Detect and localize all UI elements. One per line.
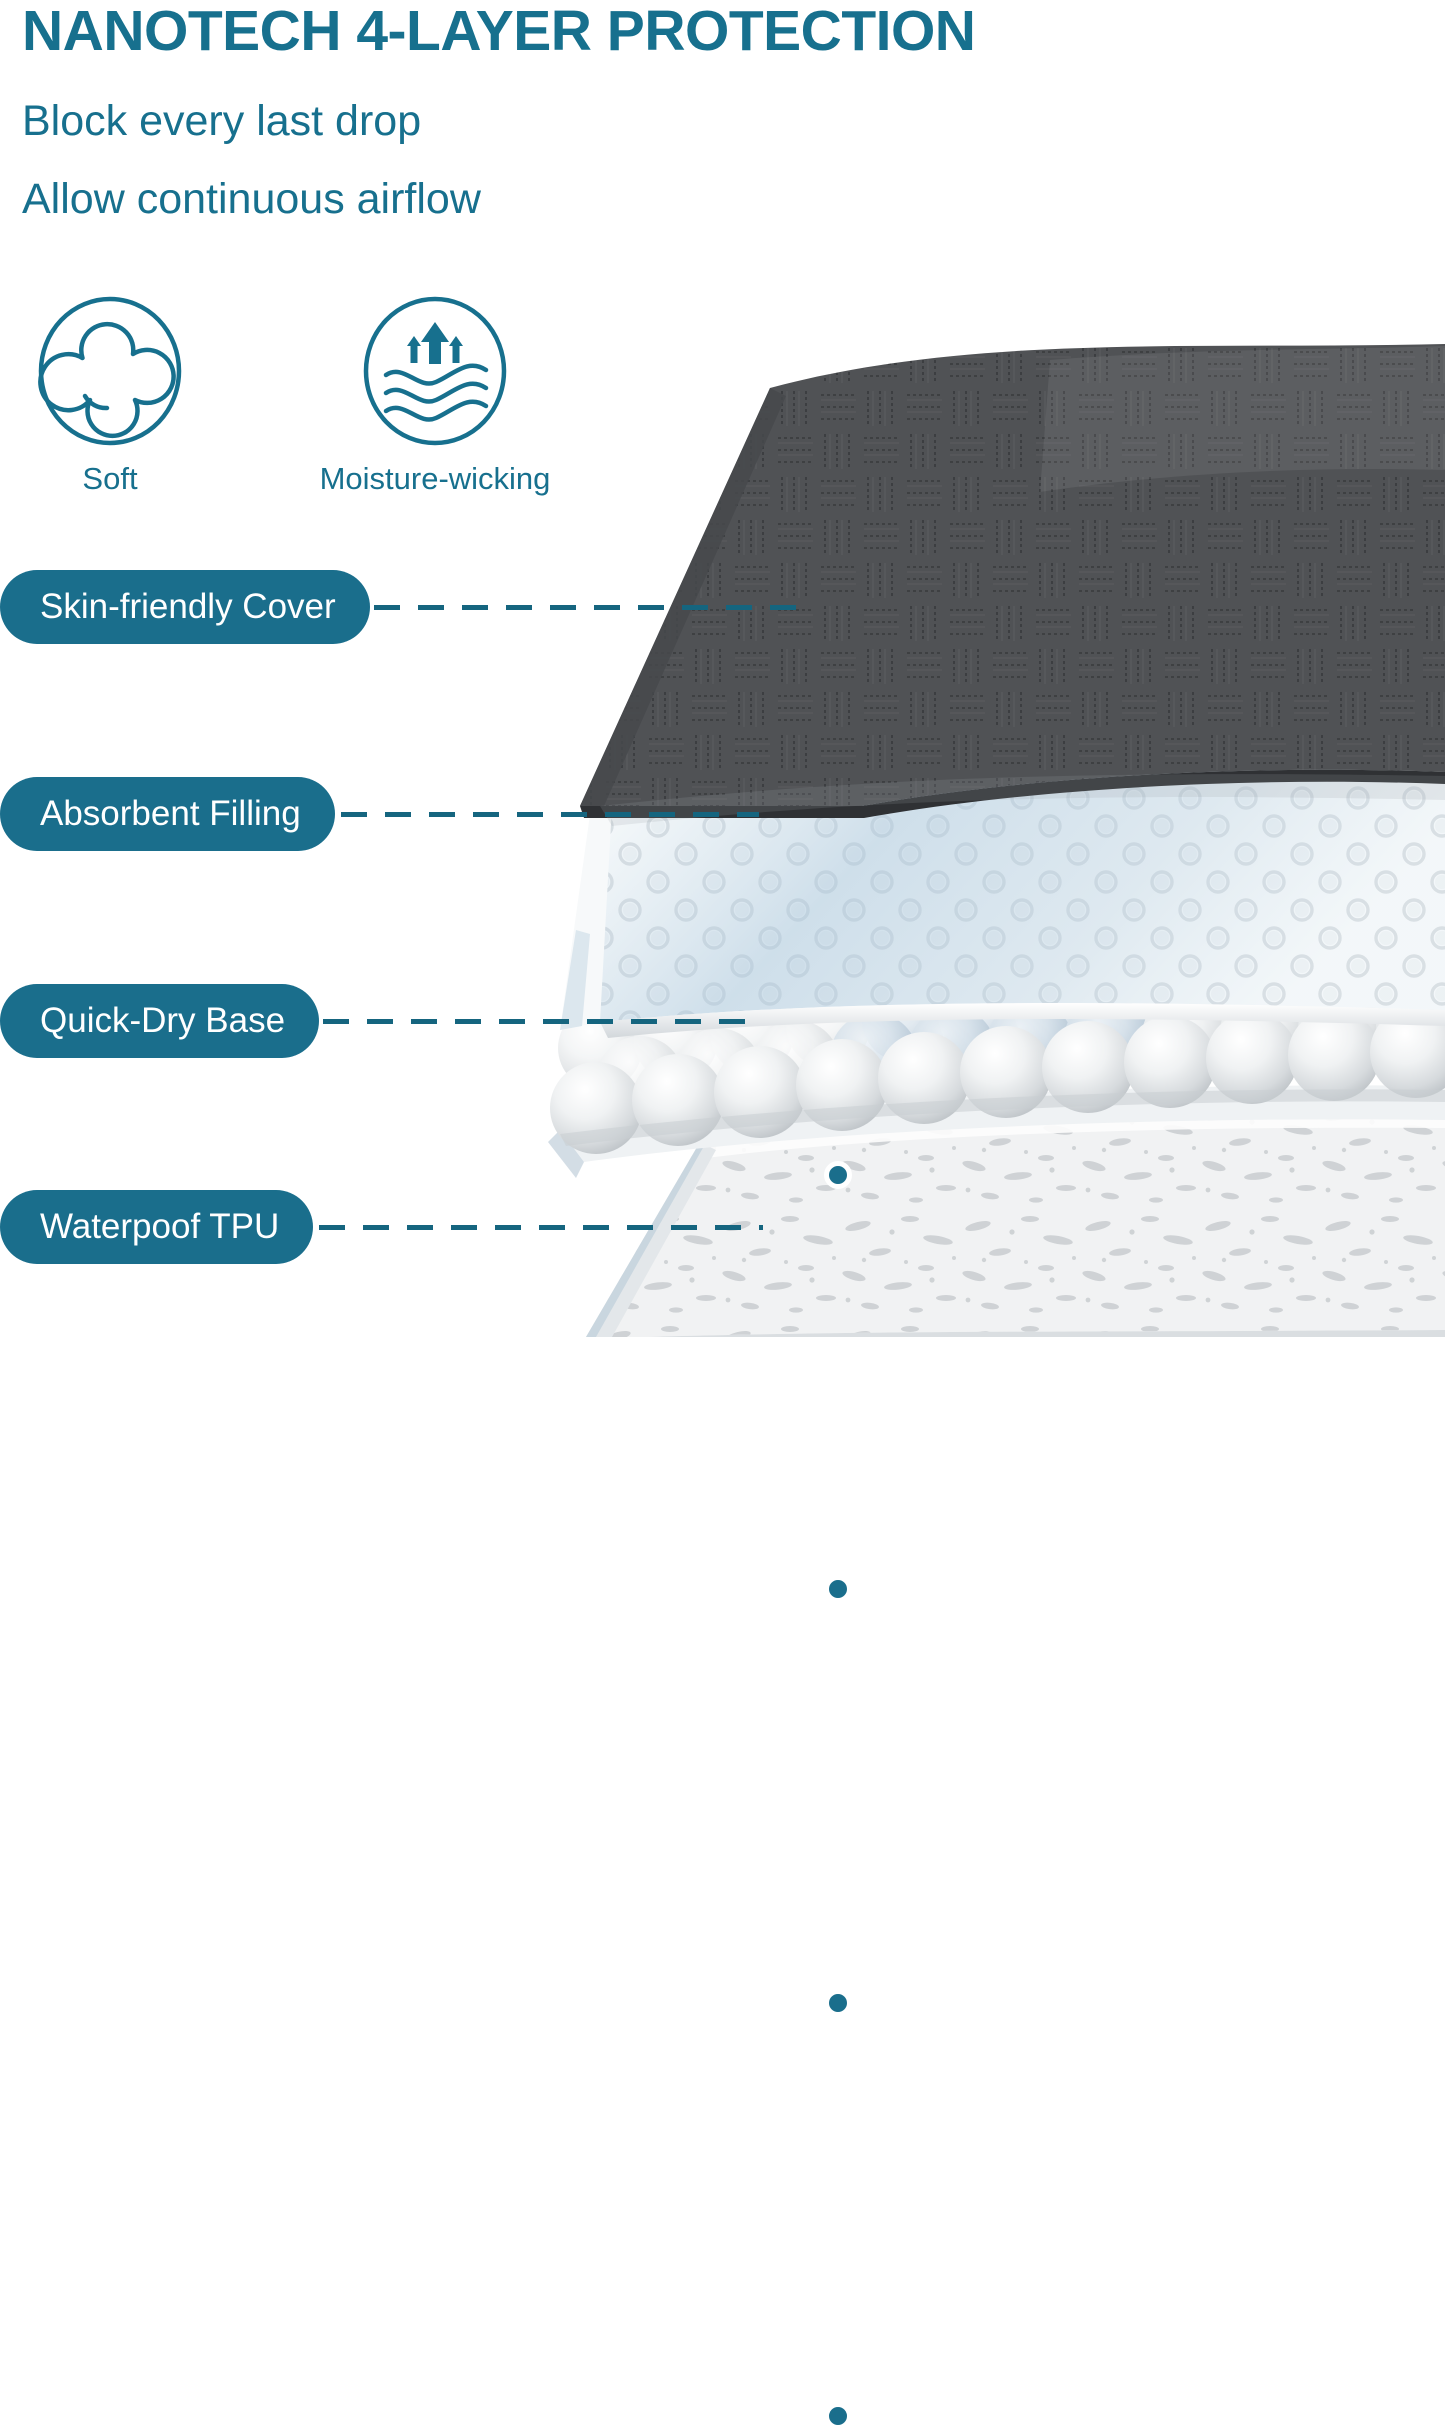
callout-pill[interactable]: Skin-friendly Cover bbox=[0, 570, 370, 644]
leader-line bbox=[341, 812, 759, 817]
leader-line bbox=[319, 1225, 763, 1230]
feature-label: Soft bbox=[20, 461, 200, 497]
callout-label: Skin-friendly Cover bbox=[40, 587, 336, 627]
callout-absorbent-filling[interactable]: Absorbent Filling bbox=[0, 777, 759, 851]
callout-pill[interactable]: Waterpoof TPU bbox=[0, 1190, 313, 1264]
leader-line bbox=[323, 1019, 763, 1024]
leader-line bbox=[374, 605, 808, 610]
cloud-icon bbox=[20, 296, 200, 451]
layer-marker-4[interactable] bbox=[824, 2402, 852, 2430]
callout-label: Absorbent Filling bbox=[40, 794, 301, 834]
subtitle-line-2: Allow continuous airflow bbox=[22, 178, 481, 221]
callout-skin-friendly-cover[interactable]: Skin-friendly Cover bbox=[0, 570, 808, 644]
page-title: NANOTECH 4-LAYER PROTECTION bbox=[22, 2, 1422, 62]
feature-soft: Soft bbox=[20, 296, 200, 497]
subtitle-line-1: Block every last drop bbox=[22, 100, 421, 143]
callout-waterproof-tpu[interactable]: Waterpoof TPU bbox=[0, 1190, 763, 1264]
feature-label: Moisture-wicking bbox=[290, 461, 580, 497]
feature-moisture-wicking: Moisture-wicking bbox=[290, 296, 580, 497]
callout-pill[interactable]: Absorbent Filling bbox=[0, 777, 335, 851]
callout-label: Quick-Dry Base bbox=[40, 1001, 285, 1041]
callout-pill[interactable]: Quick-Dry Base bbox=[0, 984, 319, 1058]
layer-marker-2[interactable] bbox=[824, 1575, 852, 1603]
layer-marker-3[interactable] bbox=[824, 1989, 852, 2017]
moisture-wicking-icon bbox=[360, 296, 510, 451]
callout-quick-dry-base[interactable]: Quick-Dry Base bbox=[0, 984, 763, 1058]
callout-label: Waterpoof TPU bbox=[40, 1207, 279, 1247]
layer-marker-1[interactable] bbox=[824, 1161, 852, 1189]
